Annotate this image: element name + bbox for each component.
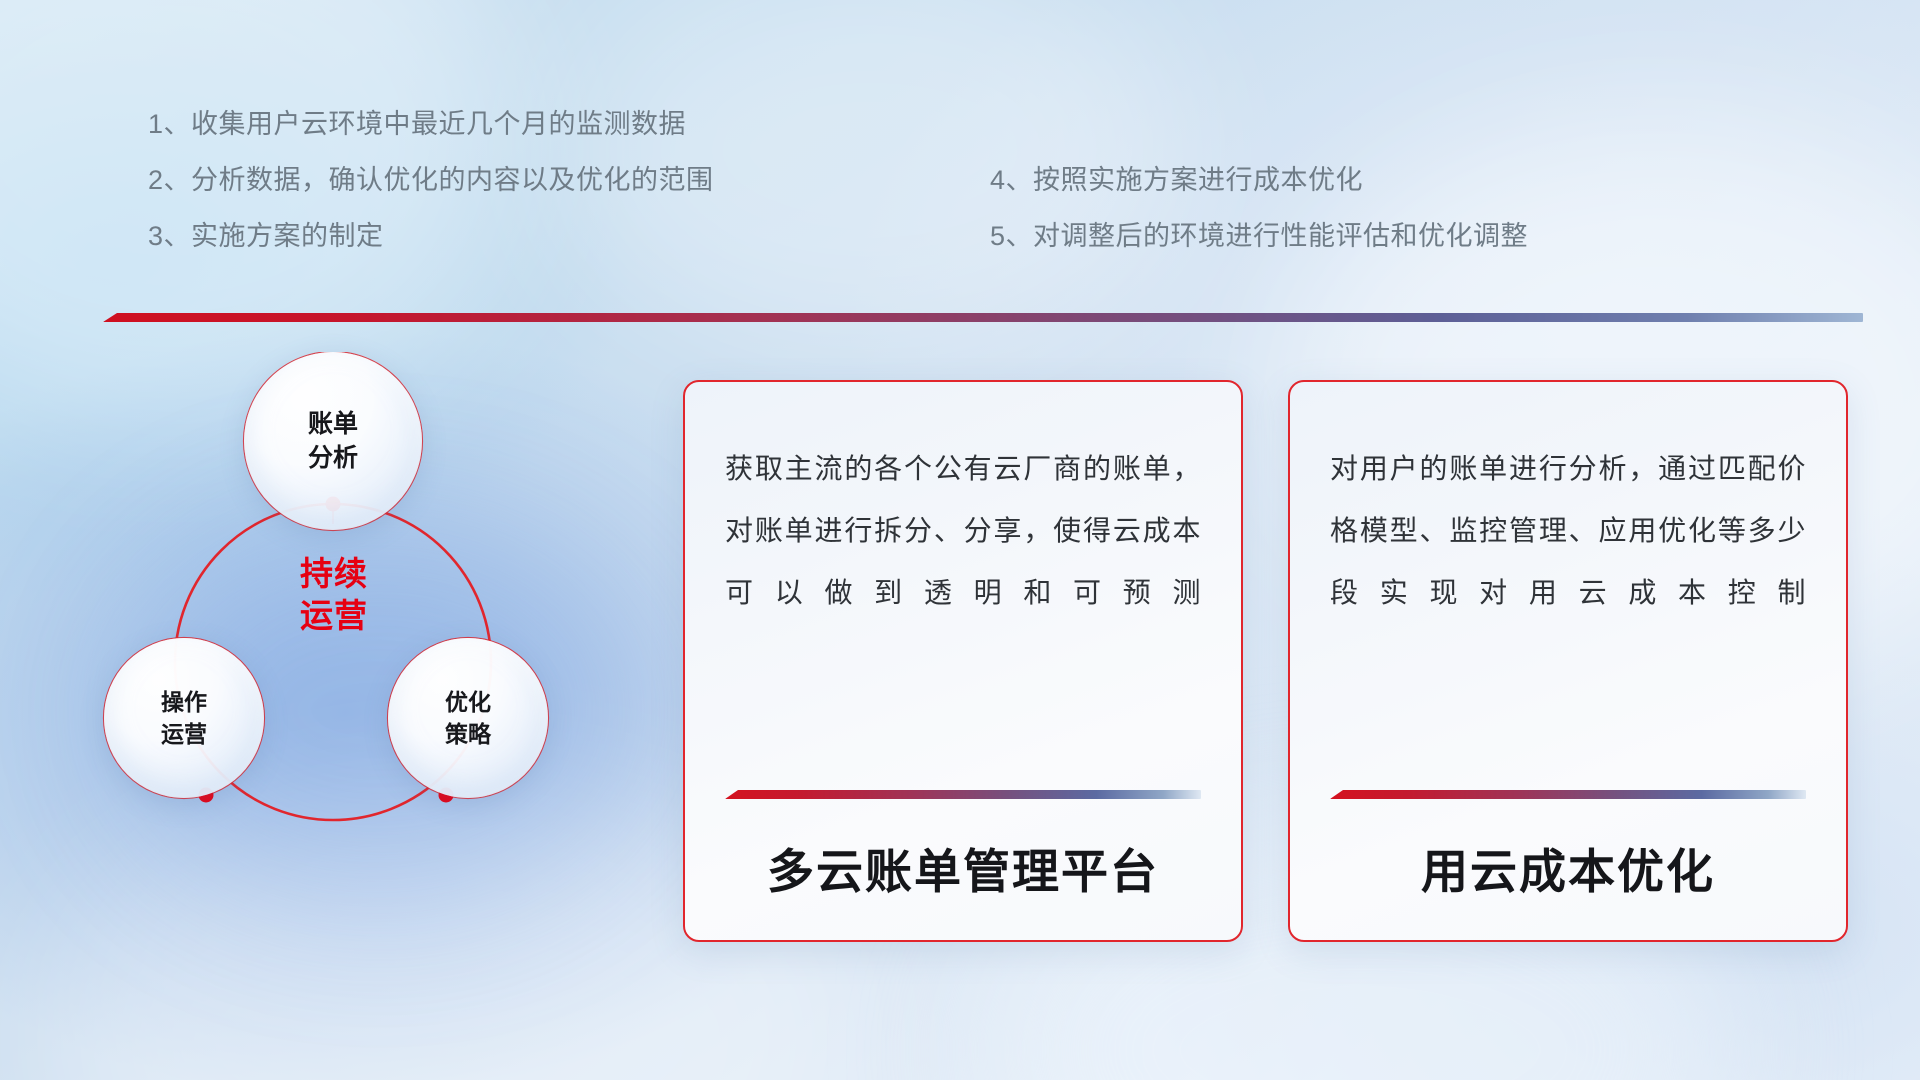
venn-node-label-line2: 运营 <box>161 718 207 750</box>
venn-node-bill-analysis[interactable]: 账单 分析 <box>244 352 422 530</box>
feature-card-divider <box>725 790 1201 799</box>
feature-card-body: 获取主流的各个公有云厂商的账单，对账单进行拆分、分享，使得云成本可以做到透明和可… <box>725 438 1201 624</box>
step-item-4: 4、按照实施方案进行成本优化 <box>990 152 1528 208</box>
feature-card-body: 对用户的账单进行分析，通过匹配价格模型、监控管理、应用优化等多少段实现对用云成本… <box>1330 438 1806 624</box>
feature-card-title: 用云成本优化 <box>1330 833 1806 902</box>
feature-card-cost-optimization[interactable]: 对用户的账单进行分析，通过匹配价格模型、监控管理、应用优化等多少段实现对用云成本… <box>1288 380 1848 942</box>
venn-diagram: 账单 分析 操作 运营 优化 策略 持续 运营 <box>96 352 616 932</box>
feature-card-title: 多云账单管理平台 <box>725 833 1201 902</box>
venn-node-label-line1: 账单 <box>308 407 358 441</box>
feature-card-multicloud-billing[interactable]: 获取主流的各个公有云厂商的账单，对账单进行拆分、分享，使得云成本可以做到透明和可… <box>683 380 1243 942</box>
venn-node-label-line2: 策略 <box>445 718 491 750</box>
venn-center-line1: 持续 <box>300 553 368 595</box>
venn-node-operations[interactable]: 操作 运营 <box>104 638 264 798</box>
venn-node-label-line1: 操作 <box>161 686 207 718</box>
venn-node-label-line1: 优化 <box>445 686 491 718</box>
steps-list-left: 1、收集用户云环境中最近几个月的监测数据 2、分析数据，确认优化的内容以及优化的… <box>148 96 714 264</box>
venn-center-label: 持续 运营 <box>246 520 422 670</box>
step-item-5: 5、对调整后的环境进行性能评估和优化调整 <box>990 208 1528 264</box>
step-item-3: 3、实施方案的制定 <box>148 208 714 264</box>
venn-center-line2: 运营 <box>300 595 368 637</box>
steps-list-right: 4、按照实施方案进行成本优化 5、对调整后的环境进行性能评估和优化调整 <box>990 152 1528 264</box>
step-item-2: 2、分析数据，确认优化的内容以及优化的范围 <box>148 152 714 208</box>
section-divider-rule <box>103 313 1863 322</box>
slide-canvas: 1、收集用户云环境中最近几个月的监测数据 2、分析数据，确认优化的内容以及优化的… <box>0 0 1920 1080</box>
venn-node-label-line2: 分析 <box>308 441 358 475</box>
step-item-1: 1、收集用户云环境中最近几个月的监测数据 <box>148 96 714 152</box>
feature-card-divider <box>1330 790 1806 799</box>
